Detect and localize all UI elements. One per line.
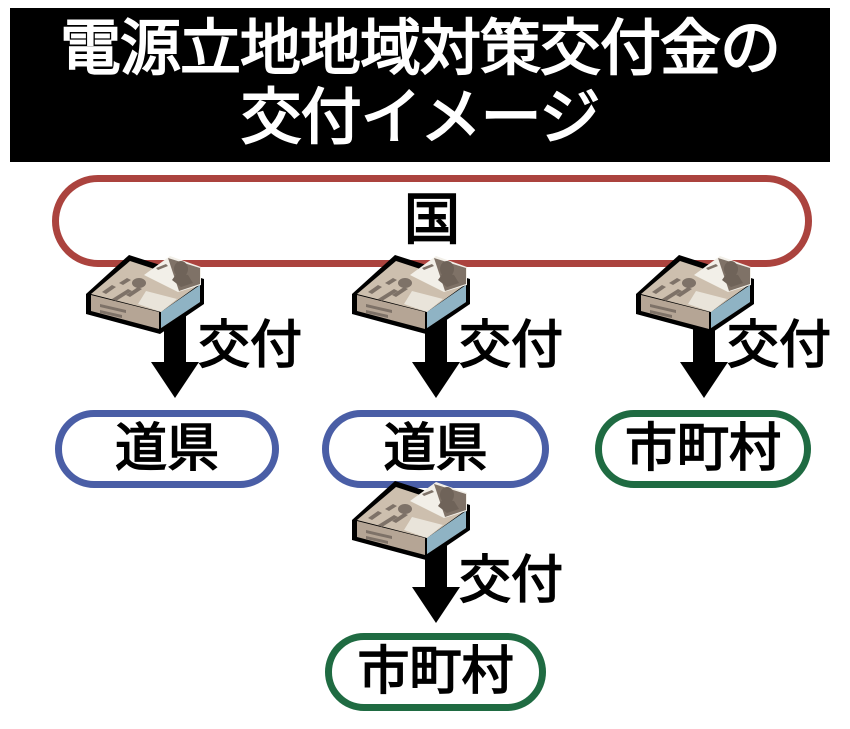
- arrow-head: [680, 362, 728, 398]
- money-bundle-icon-flow-3: [632, 242, 758, 338]
- arrow-head: [412, 362, 460, 398]
- node-municipality-2: 市町村: [325, 633, 546, 711]
- title-line-2: 交付イメージ: [241, 87, 600, 148]
- money-bundle-icon-flow-4: [348, 468, 474, 564]
- node-prefecture-1: 道県: [55, 410, 279, 488]
- title-banner: 電源立地地域対策交付金の 交付イメージ: [10, 8, 830, 162]
- arrow-head: [151, 362, 199, 398]
- flow-label-4: 交付: [459, 555, 563, 607]
- flow-label-1: 交付: [198, 320, 302, 372]
- title-line-1: 電源立地地域対策交付金の: [60, 18, 780, 79]
- flow-label-2: 交付: [459, 320, 563, 372]
- money-bundle-icon-flow-1: [82, 242, 208, 338]
- infographic-canvas: 電源立地地域対策交付金の 交付イメージ 国: [0, 0, 850, 729]
- node-municipality-1: 市町村: [595, 410, 811, 488]
- money-bundle-icon-flow-2: [348, 242, 474, 338]
- arrow-head: [412, 587, 460, 623]
